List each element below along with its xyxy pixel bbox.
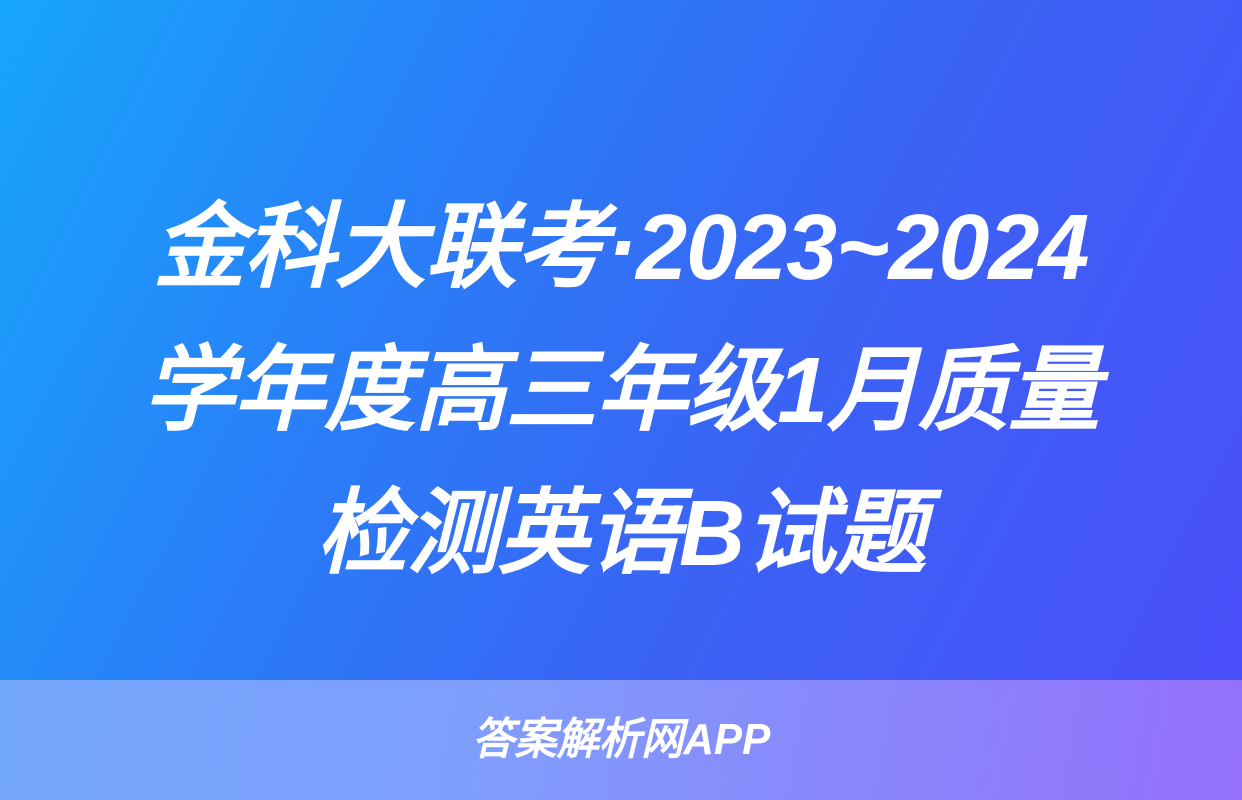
title-line-3: 检测英语B试题 xyxy=(86,462,1156,605)
title-line-1: 金科大联考·2023~2024 xyxy=(86,176,1156,319)
title-line-2: 学年度高三年级1月质量 xyxy=(86,319,1156,462)
footer-watermark-band: 答案解析网APP xyxy=(0,680,1242,800)
title-banner: 金科大联考·2023~2024 学年度高三年级1月质量 检测英语B试题 xyxy=(0,0,1242,680)
app-watermark-text: 答案解析网APP xyxy=(472,718,770,762)
exam-title-card: 金科大联考·2023~2024 学年度高三年级1月质量 检测英语B试题 答案解析… xyxy=(0,0,1242,800)
exam-title: 金科大联考·2023~2024 学年度高三年级1月质量 检测英语B试题 xyxy=(0,176,1242,605)
